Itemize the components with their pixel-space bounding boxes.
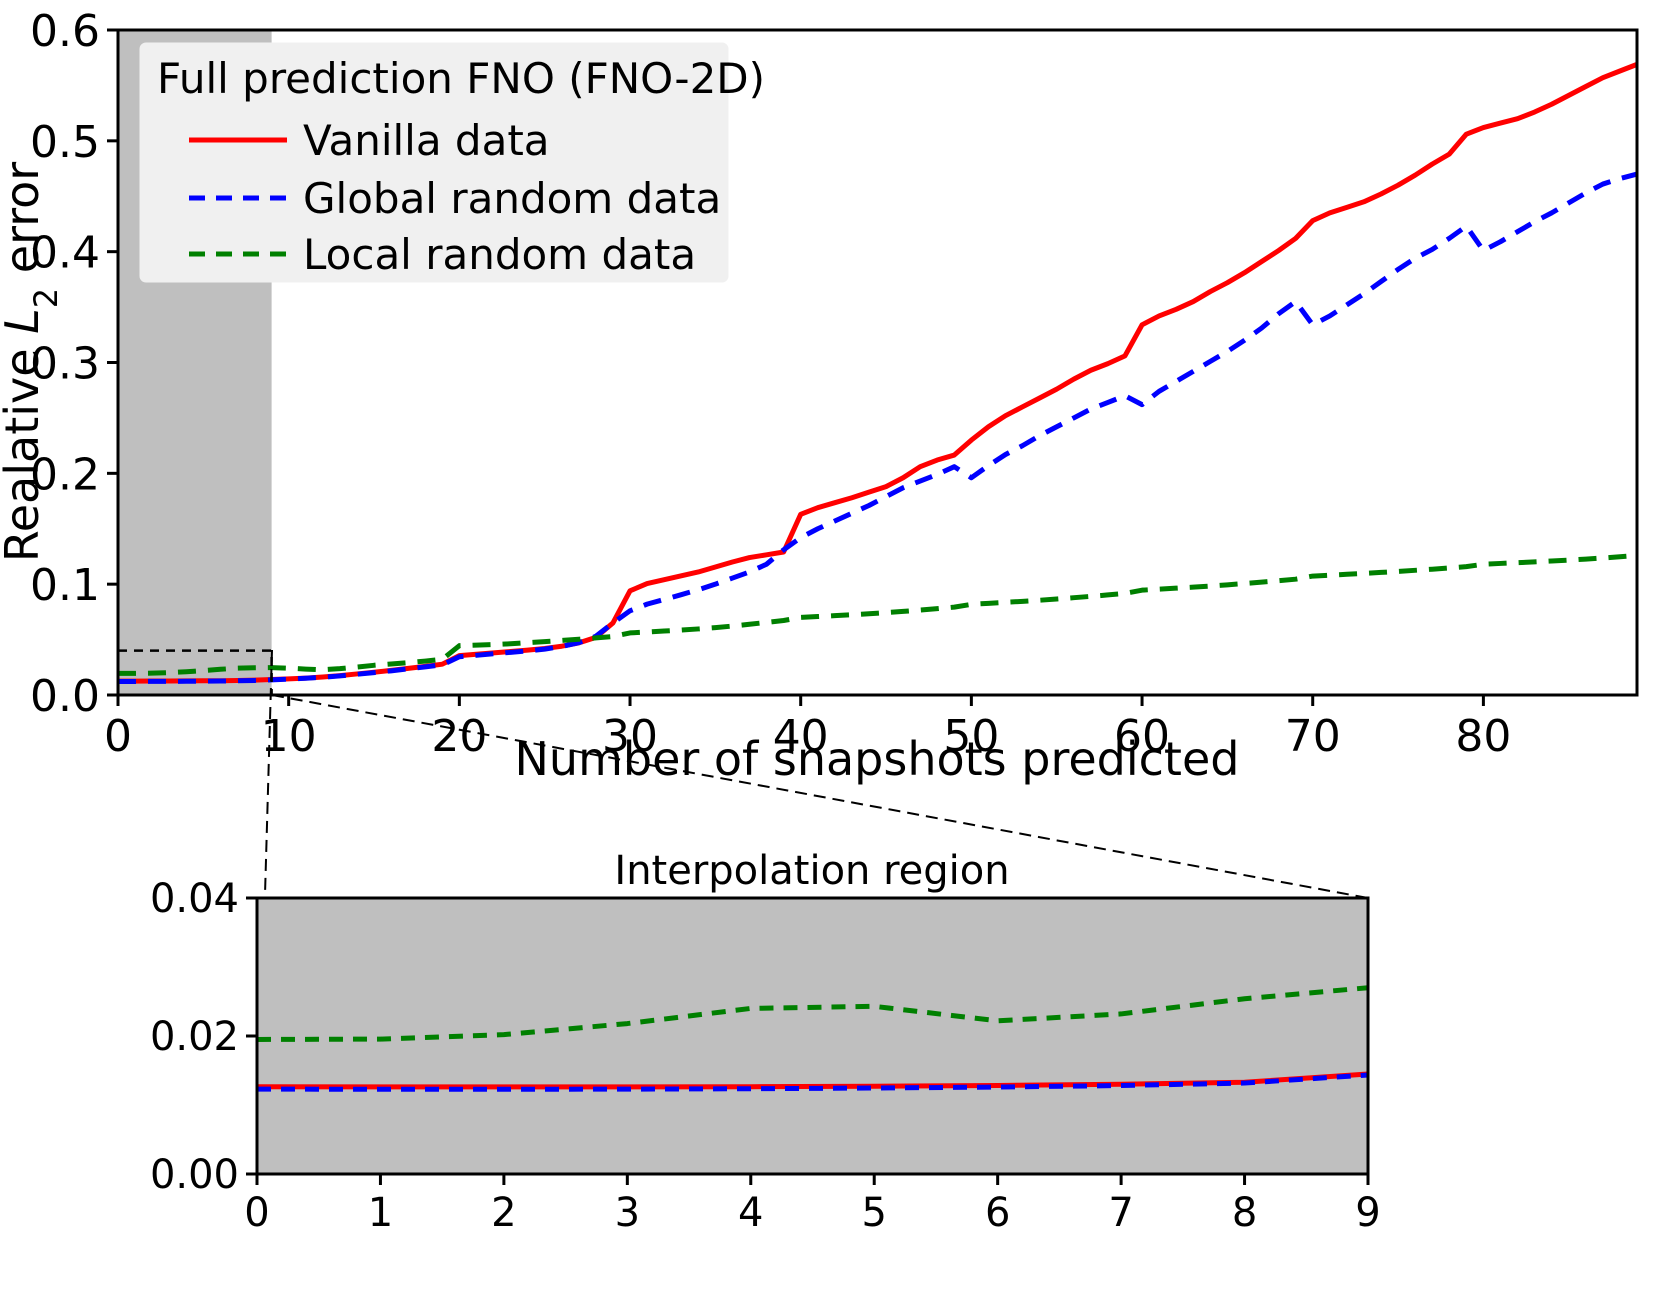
main-legend[interactable]: Full prediction FNO (FNO-2D) Vanilla dat… (140, 43, 765, 282)
y-tick-label: 0.0 (30, 671, 100, 722)
x-tick-label: 0 (244, 1190, 269, 1236)
x-tick-label: 70 (1285, 711, 1341, 762)
figure-root: 01020304050607080 0.00.10.20.30.40.50.6 … (0, 0, 1661, 1298)
legend-title: Full prediction FNO (FNO-2D) (157, 54, 765, 103)
x-tick-label: 4 (738, 1190, 763, 1236)
y-label-italic: L (0, 308, 49, 334)
x-tick-label: 6 (985, 1190, 1010, 1236)
y-tick-label: 0.02 (150, 1014, 239, 1060)
y-label-pre: Realative (0, 334, 49, 562)
legend-label-global-random: Global random data (303, 174, 721, 223)
x-tick-label: 8 (1232, 1190, 1257, 1236)
inset-title: Interpolation region (614, 848, 1009, 894)
inset-plot-background (257, 898, 1368, 1174)
x-tick-label: 20 (431, 711, 487, 762)
y-tick-label: 0.04 (150, 876, 239, 922)
y-tick-label: 0.00 (150, 1152, 239, 1198)
legend-label-vanilla: Vanilla data (303, 116, 550, 165)
figure-svg: 01020304050607080 0.00.10.20.30.40.50.6 … (0, 0, 1661, 1298)
inset-x-tick-group: 0123456789 (244, 1174, 1380, 1236)
x-tick-label: 2 (491, 1190, 516, 1236)
x-tick-label: 1 (368, 1190, 393, 1236)
y-tick-label: 0.1 (30, 560, 100, 611)
main-x-axis-label: Number of snapshots predicted (515, 732, 1240, 786)
x-tick-label: 3 (615, 1190, 640, 1236)
x-tick-label: 7 (1108, 1190, 1133, 1236)
inset-axes: 0123456789 0.000.020.04 Interpolation re… (150, 848, 1381, 1236)
x-tick-label: 0 (104, 711, 132, 762)
y-tick-label: 0.6 (30, 6, 100, 57)
x-tick-label: 5 (861, 1190, 886, 1236)
y-label-sub: 2 (27, 288, 65, 308)
x-tick-label: 9 (1355, 1190, 1380, 1236)
x-tick-label: 10 (261, 711, 317, 762)
x-tick-label: 80 (1455, 711, 1511, 762)
legend-label-local-random: Local random data (303, 230, 696, 279)
y-tick-label: 0.5 (30, 117, 100, 168)
y-label-post: error (0, 162, 49, 288)
inset-y-tick-group: 0.000.020.04 (150, 876, 257, 1198)
